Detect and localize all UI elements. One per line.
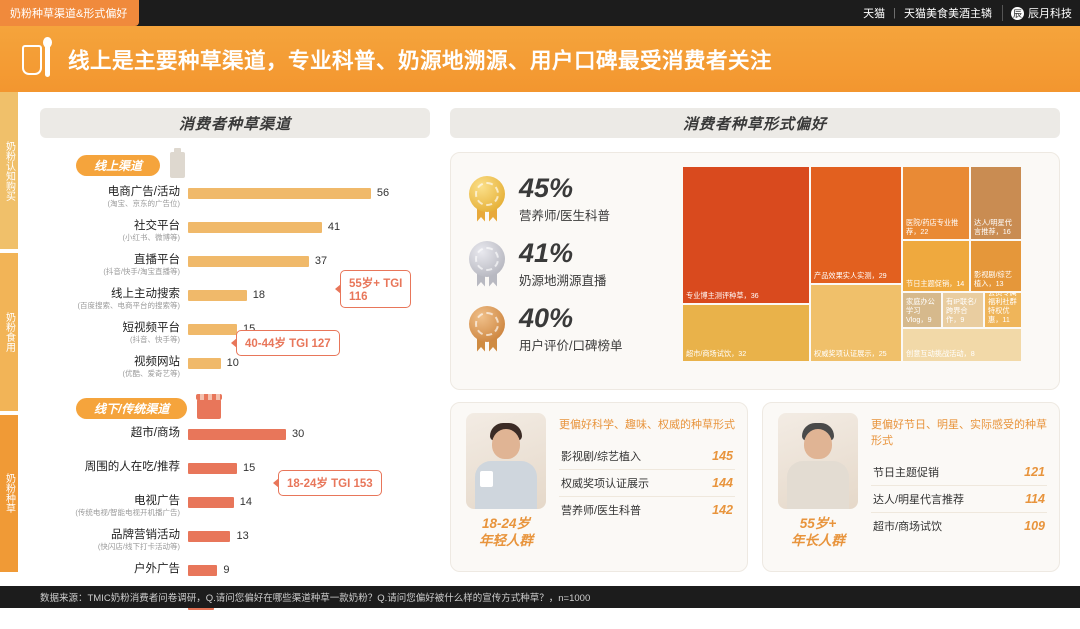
bar-category-label: 直播平台(抖音/快手/淘宝直播等)	[40, 252, 188, 277]
treemap-cell-label: 权威奖项认证展示，25	[814, 349, 898, 358]
treemap-cell-label: 节日主题促销，14	[906, 279, 966, 288]
bar-category-label: 社交平台(小红书、微博等)	[40, 218, 188, 243]
rank-label: 用户评价/口碑榜单	[519, 335, 622, 354]
left-panel-title: 消费者种草渠道	[40, 108, 430, 138]
persona-desc-senior: 更偏好节日、明星、实际感受的种草形式	[871, 417, 1047, 449]
bar-track: 37	[188, 252, 430, 267]
milk-cup-icon	[20, 39, 54, 79]
bar-row: 社交平台(小红书、微博等)41	[40, 218, 430, 252]
topbar-right-group: 天猫 | 天猫美食美酒主辚 辰 辰月科技	[863, 0, 1072, 26]
bar-value: 30	[292, 428, 304, 440]
vertical-nav: 奶粉认知购买 奶粉食用 奶粉种草	[0, 92, 18, 572]
persona-name-senior: 55岁+年长人群	[791, 515, 845, 549]
treemap-cell-label: 有IP联名/跨界合作，9	[946, 297, 980, 324]
rank-text: 40%用户评价/口碑榜单	[519, 303, 622, 354]
bar-row: 视频网站(优酷、爱奇艺等)10	[40, 354, 430, 388]
footer-note: 数据来源：TMIC奶粉消费者问卷调研，Q.请问您偏好在哪些渠道种草一款奶粉？Q.…	[0, 586, 1080, 608]
bar-value: 56	[377, 187, 389, 199]
store-icon	[197, 399, 221, 419]
treemap-cell: 家庭办公学习Vlog，9	[903, 293, 941, 327]
persona-row: 营养师/医生科普142	[559, 497, 735, 523]
treemap-cell: 创意互动挑战活动，8	[903, 329, 1021, 361]
bar-fill	[188, 531, 230, 542]
page-title: 线上是主要种草渠道，专业科普、奶源地溯源、用户口碑最受消费者关注	[68, 44, 772, 75]
persona-photo-col-young: 18-24岁年轻人群	[463, 413, 549, 561]
treemap-cell: 会员专属福利社群特权优惠，11	[985, 293, 1021, 327]
right-panel-title: 消费者种草形式偏好	[450, 108, 1060, 138]
bar-fill	[188, 290, 247, 301]
treemap-cell: 影视剧/综艺植入，13	[971, 241, 1021, 291]
persona-row: 节日主题促销121	[871, 459, 1047, 486]
right-panel: 消费者种草形式偏好	[450, 108, 1060, 138]
bar-fill	[188, 463, 237, 474]
rank-item: 41%奶源地溯源直播	[467, 238, 677, 289]
bar-track: 56	[188, 184, 430, 199]
persona-photo-col-senior: 55岁+年长人群	[775, 413, 861, 561]
older-woman-photo	[778, 413, 858, 509]
treemap-cell-label: 会员专属福利社群特权优惠，11	[988, 293, 1018, 324]
persona-rows-senior: 节日主题促销121达人/明星代言推荐114超市/商场试饮109	[871, 459, 1047, 539]
persona-row: 权威奖项认证展示144	[559, 470, 735, 497]
left-panel: 消费者种草渠道 线上渠道电商广告/活动(淘宝、京东的广告位)56社交平台(小红书…	[40, 108, 430, 592]
rank-percent: 40%	[519, 303, 622, 333]
bar-category-label: 超市/商场	[40, 425, 188, 440]
bronze-medal-icon	[467, 306, 507, 352]
bar-category-label: 短视频平台(抖音、快手等)	[40, 320, 188, 345]
persona-desc-young: 更偏好科学、趣味、权威的种草形式	[559, 417, 735, 433]
persona-row-value: 114	[1025, 492, 1045, 506]
silver-medal-icon	[467, 241, 507, 287]
bar-category-label: 电视广告(传统电视/智能电视开机播广告)	[40, 493, 188, 518]
treemap-cell-label: 超市/商场试饮，32	[686, 349, 806, 358]
bar-track: 13	[188, 527, 430, 542]
bar-row: 超市/商场30	[40, 425, 430, 459]
treemap-cell-label: 专业博主测评种草，36	[686, 291, 806, 300]
bar-value: 15	[243, 462, 255, 474]
young-woman-photo	[466, 413, 546, 509]
treemap-cell-label: 医院/药店专业推荐，22	[906, 218, 966, 236]
treemap-cell: 专业博主测评种草，36	[683, 167, 809, 303]
bar-group-header: 线上渠道	[76, 152, 430, 178]
bar-track: 41	[188, 218, 430, 233]
treemap-cell: 节日主题促销，14	[903, 241, 969, 291]
bar-fill	[188, 188, 371, 199]
tgi-callout: 18-24岁 TGI 153	[278, 470, 382, 496]
brand-logo: 辰 辰月科技	[1002, 5, 1072, 21]
bar-group-header: 线下/传统渠道	[76, 398, 430, 419]
persona-card-young: 18-24岁年轻人群 更偏好科学、趣味、权威的种草形式 影视剧/综艺植入145权…	[450, 402, 748, 572]
bar-fill	[188, 358, 221, 369]
treemap-cell: 超市/商场试饮，32	[683, 305, 809, 361]
persona-row-label: 影视剧/综艺植入	[561, 448, 641, 464]
treemap-cell-label: 达人/明星代言推荐，16	[974, 218, 1018, 236]
bar-fill	[188, 497, 234, 508]
rank-label: 奶源地溯源直播	[519, 270, 607, 289]
bar-value: 37	[315, 255, 327, 267]
bar-value: 9	[223, 564, 229, 576]
bar-value: 14	[240, 496, 252, 508]
persona-row-label: 营养师/医生科普	[561, 502, 641, 518]
bar-category-label: 品牌营销活动(快闪店/线下打卡活动等)	[40, 527, 188, 552]
rank-text: 41%奶源地溯源直播	[519, 238, 607, 289]
bar-track: 30	[188, 425, 430, 440]
persona-body-young: 更偏好科学、趣味、权威的种草形式 影视剧/综艺植入145权威奖项认证展示144营…	[549, 413, 735, 561]
bar-category-label: 户外广告	[40, 561, 188, 576]
bar-category-label: 电商广告/活动(淘宝、京东的广告位)	[40, 184, 188, 209]
vnav-item-consumption[interactable]: 奶粉食用	[0, 253, 18, 410]
vnav-item-awareness[interactable]: 奶粉认知购买	[0, 92, 18, 249]
treemap-cell-label: 产品效果实人实测，29	[814, 271, 898, 280]
persona-name-young: 18-24岁年轻人群	[479, 515, 533, 549]
persona-row: 影视剧/综艺植入145	[559, 443, 735, 470]
seeding-form-treemap: 专业博主测评种草，36产品效果实人实测，29医院/药店专业推荐，22达人/明星代…	[683, 167, 1023, 363]
brand-name: 辰月科技	[1028, 5, 1072, 21]
bar-group-label: 线下/传统渠道	[76, 398, 187, 419]
bar-category-label: 视频网站(优酷、爱奇艺等)	[40, 354, 188, 379]
treemap-cell: 医院/药店专业推荐，22	[903, 167, 969, 239]
persona-row-label: 超市/商场试饮	[873, 518, 942, 534]
persona-row-label: 权威奖项认证展示	[561, 475, 649, 491]
treemap-cell: 有IP联名/跨界合作，9	[943, 293, 983, 327]
treemap-cell-label: 创意互动挑战活动，8	[906, 349, 1018, 358]
persona-row: 超市/商场试饮109	[871, 513, 1047, 539]
bar-value: 10	[227, 357, 239, 369]
rank-percent: 41%	[519, 238, 607, 268]
rank-percent: 45%	[519, 173, 610, 203]
gold-medal-icon	[467, 176, 507, 222]
bar-row: 品牌营销活动(快闪店/线下打卡活动等)13	[40, 527, 430, 561]
bar-track: 10	[188, 354, 430, 369]
bar-row: 电视广告(传统电视/智能电视开机播广告)14	[40, 493, 430, 527]
top-bar: 奶粉种草渠道&形式偏好 天猫 | 天猫美食美酒主辚 辰 辰月科技	[0, 0, 1080, 26]
brand-mark-icon: 辰	[1011, 7, 1024, 20]
persona-row-value: 121	[1024, 465, 1045, 479]
bar-category-label: 线上主动搜索(百度搜索、电商平台的搜索等)	[40, 286, 188, 311]
bottle-icon	[170, 152, 185, 178]
treemap-cell-label: 家庭办公学习Vlog，9	[906, 297, 938, 324]
bar-row: 短视频平台(抖音、快手等)15	[40, 320, 430, 354]
bar-fill	[188, 256, 309, 267]
bar-value: 18	[253, 289, 265, 301]
persona-row: 达人/明星代言推荐114	[871, 486, 1047, 513]
bar-track: 9	[188, 561, 430, 576]
persona-row-value: 144	[712, 476, 733, 490]
rank-item: 40%用户评价/口碑榜单	[467, 303, 677, 354]
bar-row: 电商广告/活动(淘宝、京东的广告位)56	[40, 184, 430, 218]
header-band: 线上是主要种草渠道，专业科普、奶源地溯源、用户口碑最受消费者关注	[0, 26, 1080, 92]
persona-row-value: 142	[712, 503, 733, 517]
vnav-item-seeding[interactable]: 奶粉种草	[0, 415, 18, 572]
treemap-cell: 权威奖项认证展示，25	[811, 285, 901, 361]
bar-fill	[188, 222, 322, 233]
treemap-cell: 产品效果实人实测，29	[811, 167, 901, 283]
bar-fill	[188, 324, 237, 335]
bar-group-label: 线上渠道	[76, 155, 160, 176]
bar-fill	[188, 429, 286, 440]
persona-body-senior: 更偏好节日、明星、实际感受的种草形式 节日主题促销121达人/明星代言推荐114…	[861, 413, 1047, 561]
persona-row-label: 达人/明星代言推荐	[873, 491, 964, 507]
bar-value: 41	[328, 221, 340, 233]
topbar-separator: |	[893, 7, 896, 19]
persona-row-label: 节日主题促销	[873, 464, 939, 480]
bar-fill	[188, 565, 217, 576]
seeding-channel-bar-chart: 线上渠道电商广告/活动(淘宝、京东的广告位)56社交平台(小红书、微博等)41直…	[40, 152, 430, 592]
page-tag: 奶粉种草渠道&形式偏好	[0, 0, 139, 26]
treemap-cell: 达人/明星代言推荐，16	[971, 167, 1021, 239]
bar-category-label: 周围的人在吃/推荐	[40, 459, 188, 474]
rank-text: 45%营养师/医生科普	[519, 173, 610, 224]
treemap-cell-label: 影视剧/综艺植入，13	[974, 270, 1018, 288]
persona-card-senior: 55岁+年长人群 更偏好节日、明星、实际感受的种草形式 节日主题促销121达人/…	[762, 402, 1060, 572]
rank-label: 营养师/医生科普	[519, 205, 610, 224]
preference-rank-card: 45%营养师/医生科普41%奶源地溯源直播40%用户评价/口碑榜单 专业博主测评…	[450, 152, 1060, 390]
persona-row-value: 109	[1024, 519, 1045, 533]
topbar-label-tmall: 天猫	[863, 5, 885, 21]
rank-item: 45%营养师/医生科普	[467, 173, 677, 224]
topbar-label-channel: 天猫美食美酒主辚	[904, 5, 992, 21]
persona-row-value: 145	[712, 449, 733, 463]
tgi-callout: 40-44岁 TGI 127	[236, 330, 340, 356]
rank-list: 45%营养师/医生科普41%奶源地溯源直播40%用户评价/口碑榜单	[467, 167, 677, 375]
persona-rows-young: 影视剧/综艺植入145权威奖项认证展示144营养师/医生科普142	[559, 443, 735, 523]
tgi-callout: 55岁+ TGI116	[340, 270, 411, 308]
bar-value: 13	[236, 530, 248, 542]
